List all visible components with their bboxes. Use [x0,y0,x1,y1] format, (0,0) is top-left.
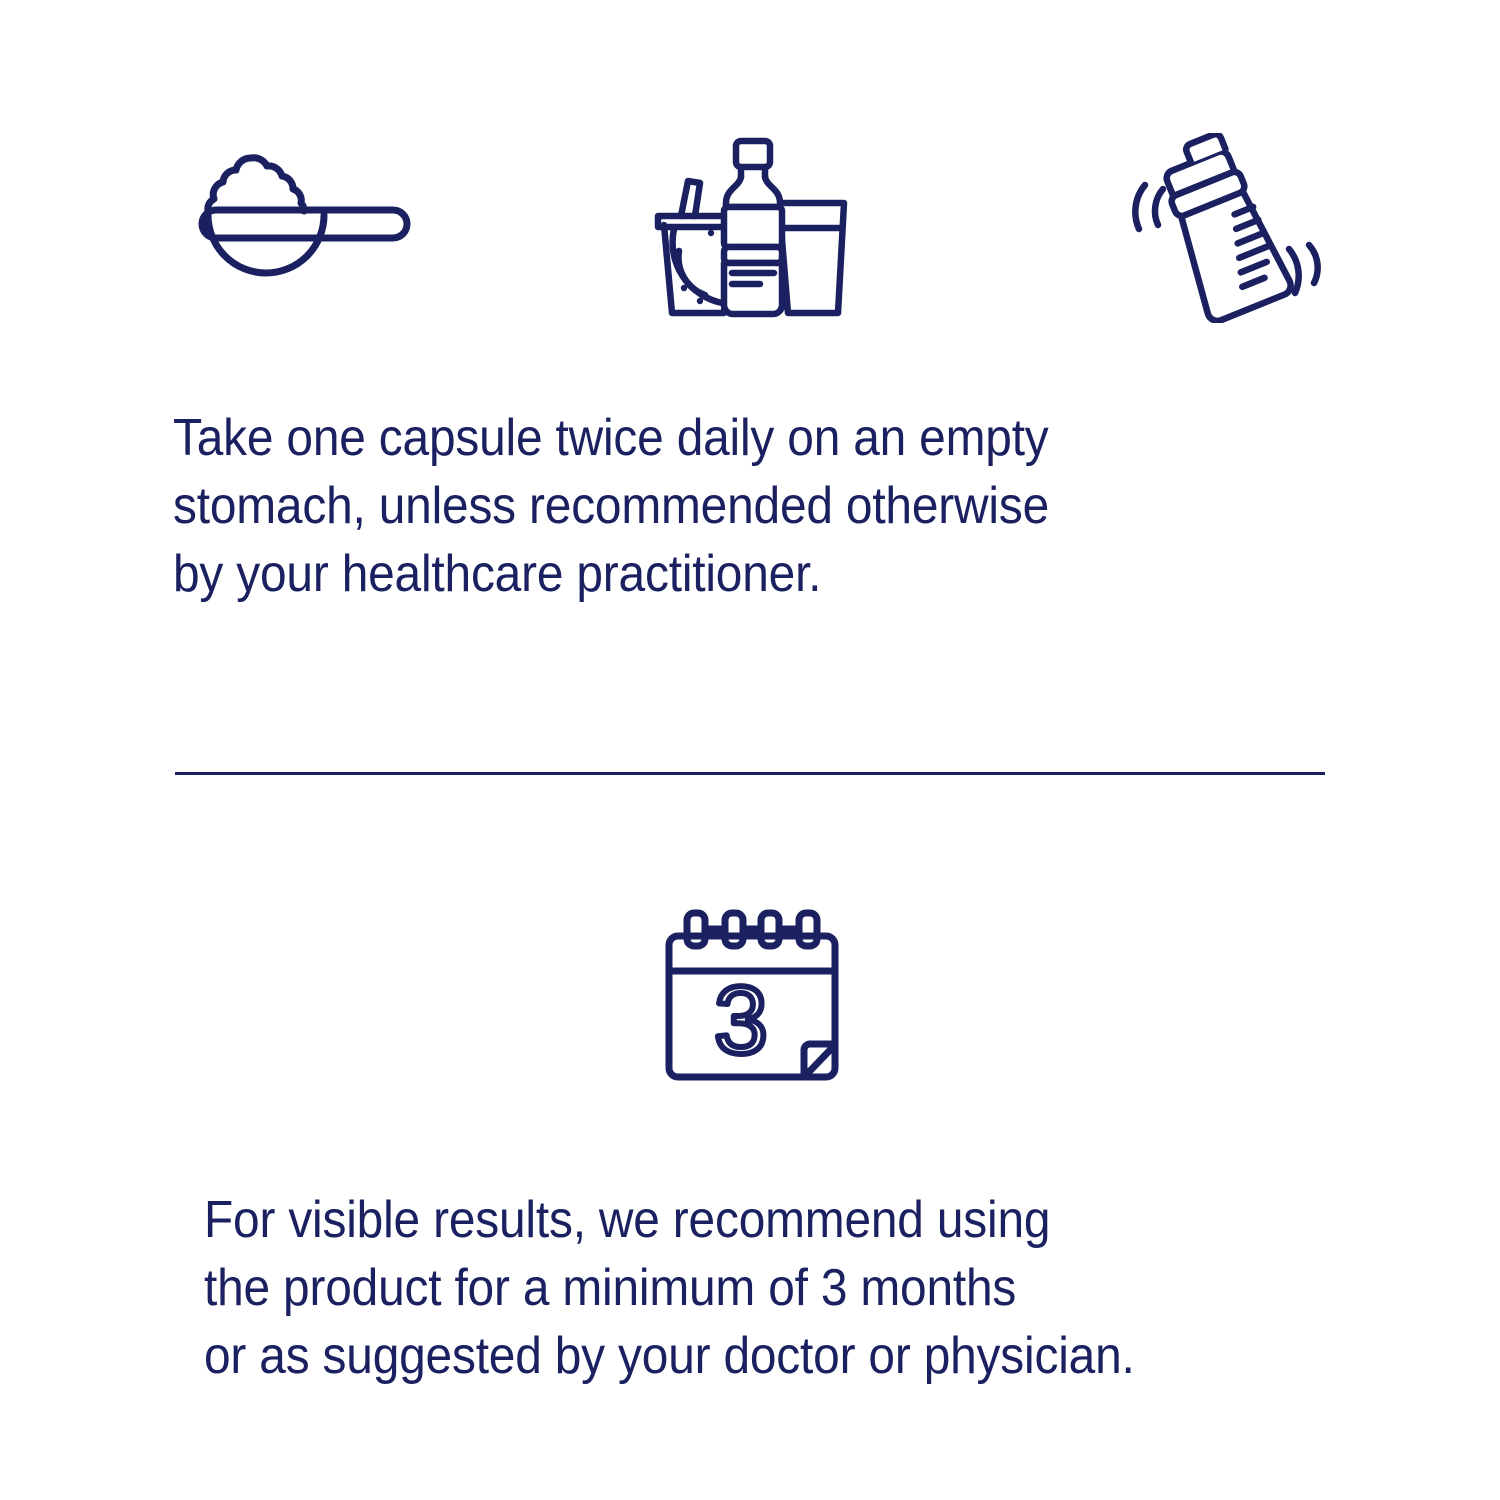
water-bottle-juice-glass-icon [635,128,875,328]
calendar-number: 3 [714,967,767,1074]
measuring-scoop-icon [170,128,440,328]
usage-duration-text: For visible results, we recommend using … [204,1186,1290,1390]
usage-icon-row [0,128,1500,328]
section-divider [175,772,1325,775]
product-usage-infographic: Take one capsule twice daily on an empty… [0,0,1500,1500]
shaker-bottle-icon [1115,128,1335,328]
calendar-3-months-icon: 3 [0,905,1500,1105]
usage-instruction-text: Take one capsule twice daily on an empty… [173,404,1203,608]
